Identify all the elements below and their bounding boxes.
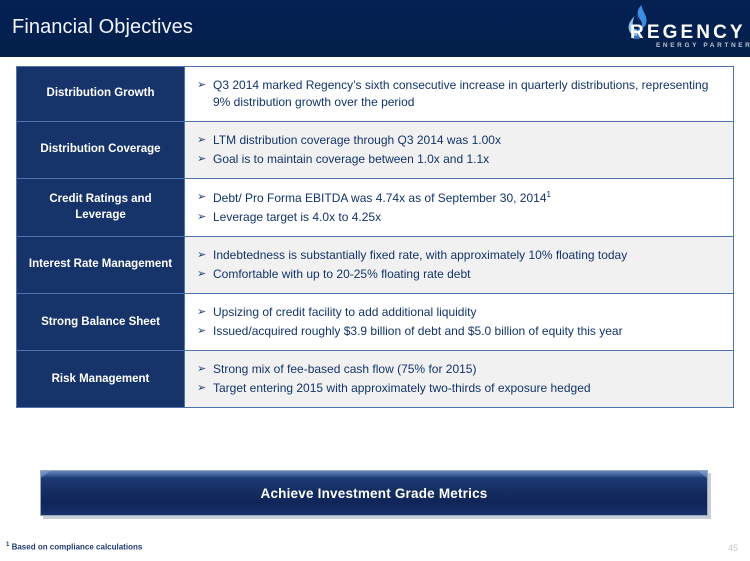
row-content-cell: ➢Q3 2014 marked Regency’s sixth consecut… (185, 67, 733, 121)
row-content-cell: ➢LTM distribution coverage through Q3 20… (185, 122, 733, 178)
table-row: Distribution Growth➢Q3 2014 marked Regen… (17, 67, 733, 122)
row-content-cell: ➢Indebtedness is substantially fixed rat… (185, 237, 733, 293)
arrow-bullet-icon: ➢ (197, 209, 213, 226)
footnote-marker: 1 (6, 542, 9, 548)
arrow-bullet-icon: ➢ (197, 132, 213, 149)
row-label-text: Interest Rate Management (29, 257, 172, 273)
row-label-cell: Risk Management (17, 351, 185, 407)
banner-body: Achieve Investment Grade Metrics (40, 470, 708, 516)
table-row: Credit Ratings and Leverage➢Debt/ Pro Fo… (17, 179, 733, 237)
bullet-text: Upsizing of credit facility to add addit… (213, 304, 723, 321)
arrow-bullet-icon: ➢ (197, 189, 213, 206)
table-row: Interest Rate Management➢Indebtedness is… (17, 237, 733, 294)
row-content-cell: ➢Strong mix of fee-based cash flow (75% … (185, 351, 733, 407)
banner-label: Achieve Investment Grade Metrics (261, 486, 488, 501)
row-label-cell: Distribution Coverage (17, 122, 185, 178)
footnote: 1 Based on compliance calculations (6, 542, 142, 552)
row-label-cell: Interest Rate Management (17, 237, 185, 293)
row-content-cell: ➢Upsizing of credit facility to add addi… (185, 294, 733, 350)
row-label-cell: Credit Ratings and Leverage (17, 179, 185, 236)
footnote-text: Based on compliance calculations (12, 543, 143, 552)
bullet-item: ➢Indebtedness is substantially fixed rat… (197, 247, 723, 264)
bullet-text: Comfortable with up to 20-25% floating r… (213, 266, 723, 283)
bullet-text: Debt/ Pro Forma EBITDA was 4.74x as of S… (213, 189, 723, 207)
page-number: 45 (728, 543, 738, 553)
bullet-text: Indebtedness is substantially fixed rate… (213, 247, 723, 264)
row-label-cell: Distribution Growth (17, 67, 185, 121)
bullet-text: Issued/acquired roughly $3.9 billion of … (213, 323, 723, 340)
banner-bevel-right (698, 471, 707, 478)
bullet-item: ➢LTM distribution coverage through Q3 20… (197, 132, 723, 149)
banner-bevel-left (41, 471, 50, 478)
arrow-bullet-icon: ➢ (197, 323, 213, 340)
arrow-bullet-icon: ➢ (197, 361, 213, 378)
arrow-bullet-icon: ➢ (197, 266, 213, 283)
bullet-item: ➢Upsizing of credit facility to add addi… (197, 304, 723, 321)
row-label-text: Distribution Coverage (40, 142, 160, 158)
bullet-text: Strong mix of fee-based cash flow (75% f… (213, 361, 723, 378)
bullet-text: LTM distribution coverage through Q3 201… (213, 132, 723, 149)
bullet-text: Leverage target is 4.0x to 4.25x (213, 209, 723, 226)
arrow-bullet-icon: ➢ (197, 380, 213, 397)
header-underline (0, 57, 750, 60)
row-label-text: Risk Management (52, 372, 150, 388)
row-label-text: Strong Balance Sheet (41, 315, 160, 331)
bullet-item: ➢Strong mix of fee-based cash flow (75% … (197, 361, 723, 378)
arrow-bullet-icon: ➢ (197, 247, 213, 264)
bullet-item: ➢Q3 2014 marked Regency’s sixth consecut… (197, 77, 723, 111)
page-title: Financial Objectives (12, 16, 193, 39)
row-label-cell: Strong Balance Sheet (17, 294, 185, 350)
financial-objectives-table: Distribution Growth➢Q3 2014 marked Regen… (16, 66, 734, 408)
bullet-text: Goal is to maintain coverage between 1.0… (213, 151, 723, 168)
table-row: Distribution Coverage➢LTM distribution c… (17, 122, 733, 179)
arrow-bullet-icon: ➢ (197, 151, 213, 168)
bullet-item: ➢Leverage target is 4.0x to 4.25x (197, 209, 723, 226)
bullet-item: ➢Goal is to maintain coverage between 1.… (197, 151, 723, 168)
bullet-item: ➢Target entering 2015 with approximately… (197, 380, 723, 397)
table-row: Strong Balance Sheet➢Upsizing of credit … (17, 294, 733, 351)
row-content-cell: ➢Debt/ Pro Forma EBITDA was 4.74x as of … (185, 179, 733, 236)
logo-tagline: ENERGY PARTNERS (656, 42, 750, 49)
row-label-text: Distribution Growth (47, 86, 155, 102)
logo-wordmark: REGENCY (630, 22, 746, 44)
regency-logo: REGENCY ENERGY PARTNERS (612, 4, 742, 54)
bullet-text: Q3 2014 marked Regency’s sixth consecuti… (213, 77, 723, 111)
row-label-text: Credit Ratings and Leverage (25, 192, 176, 223)
bullet-item: ➢Debt/ Pro Forma EBITDA was 4.74x as of … (197, 189, 723, 207)
achieve-metrics-banner: Achieve Investment Grade Metrics (40, 470, 708, 516)
arrow-bullet-icon: ➢ (197, 304, 213, 321)
arrow-bullet-icon: ➢ (197, 77, 213, 94)
table-row: Risk Management➢Strong mix of fee-based … (17, 351, 733, 407)
bullet-item: ➢Comfortable with up to 20-25% floating … (197, 266, 723, 283)
bullet-item: ➢Issued/acquired roughly $3.9 billion of… (197, 323, 723, 340)
bullet-text: Target entering 2015 with approximately … (213, 380, 723, 397)
